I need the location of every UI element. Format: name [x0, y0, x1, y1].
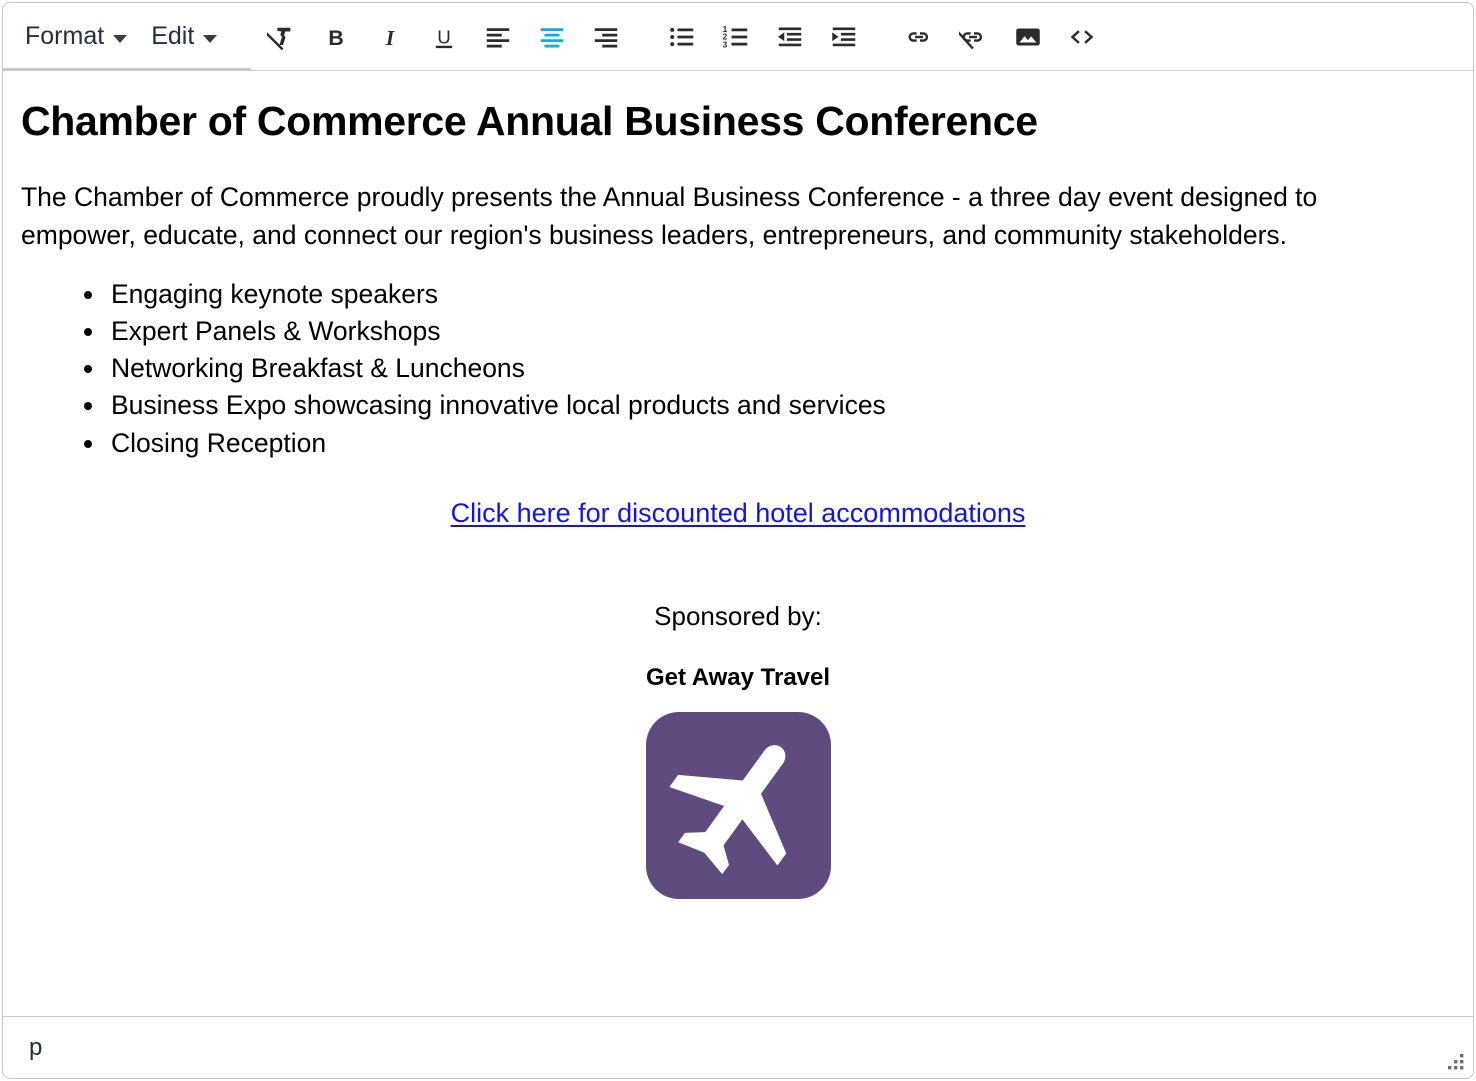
document-bullet-list: Engaging keynote speakers Expert Panels … [21, 276, 1455, 461]
underline-icon: U [429, 22, 459, 52]
editor-toolbar: Format Edit B I [3, 3, 1473, 71]
element-path[interactable]: p [29, 1034, 42, 1062]
document-intro-paragraph: The Chamber of Commerce proudly presents… [21, 179, 1381, 254]
list-item: Networking Breakfast & Luncheons [107, 350, 1455, 387]
list-item: Expert Panels & Workshops [107, 313, 1455, 350]
svg-text:U: U [438, 26, 452, 47]
resize-grip-icon[interactable] [1444, 1050, 1466, 1072]
clear-formatting-icon [267, 22, 297, 52]
link-icon [905, 22, 935, 52]
svg-text:B: B [329, 26, 344, 50]
document-title: Chamber of Commerce Annual Business Conf… [21, 99, 1455, 145]
list-item: Business Expo showcasing innovative loca… [107, 387, 1455, 424]
bold-icon: B [321, 22, 351, 52]
menu-format-label: Format [25, 22, 104, 51]
toolbar-button-clear-formatting[interactable] [260, 15, 304, 59]
align-right-icon [591, 22, 621, 52]
editor-status-bar: p [3, 1016, 1473, 1078]
menu-edit-label: Edit [151, 22, 194, 51]
hotel-accommodations-link[interactable]: Click here for discounted hotel accommod… [451, 498, 1026, 528]
toolbar-button-indent[interactable] [822, 15, 866, 59]
toolbar-button-align-left[interactable] [476, 15, 520, 59]
toolbar-button-insert-image[interactable] [1006, 15, 1050, 59]
toolbar-button-numbered-list[interactable]: 1 2 3 [714, 15, 758, 59]
sponsor-name: Get Away Travel [21, 664, 1455, 692]
toolbar-button-remove-link[interactable] [952, 15, 996, 59]
airplane-icon [646, 712, 831, 899]
italic-icon: I [375, 22, 405, 52]
svg-text:3: 3 [723, 40, 728, 49]
menu-format[interactable]: Format [17, 18, 133, 55]
image-icon [1013, 22, 1043, 52]
unlink-icon [959, 22, 989, 52]
toolbar-button-align-center[interactable] [530, 15, 574, 59]
align-center-icon [537, 22, 567, 52]
toolbar-button-bold[interactable]: B [314, 15, 358, 59]
toolbar-button-align-right[interactable] [584, 15, 628, 59]
toolbar-button-bullet-list[interactable] [660, 15, 704, 59]
toolbar-button-source-code[interactable] [1060, 15, 1104, 59]
rich-text-editor: Format Edit B I [2, 2, 1474, 1079]
svg-text:I: I [385, 26, 395, 50]
sponsored-by-label: Sponsored by: [21, 601, 1455, 632]
indent-icon [829, 22, 859, 52]
code-icon [1067, 22, 1097, 52]
sponsor-section: Sponsored by: Get Away Travel [21, 601, 1455, 899]
list-item: Engaging keynote speakers [107, 276, 1455, 313]
toolbar-button-outdent[interactable] [768, 15, 812, 59]
list-item: Closing Reception [107, 425, 1455, 462]
toolbar-button-insert-link[interactable] [898, 15, 942, 59]
bullet-list-icon [667, 22, 697, 52]
menu-edit[interactable]: Edit [143, 18, 223, 55]
outdent-icon [775, 22, 805, 52]
align-left-icon [483, 22, 513, 52]
chevron-down-icon [203, 35, 217, 43]
chevron-down-icon [113, 35, 127, 43]
toolbar-button-underline[interactable]: U [422, 15, 466, 59]
toolbar-button-italic[interactable]: I [368, 15, 412, 59]
sponsor-logo[interactable] [646, 712, 831, 899]
editor-content-body[interactable]: Chamber of Commerce Annual Business Conf… [3, 71, 1473, 1016]
hotel-link-row: Click here for discounted hotel accommod… [21, 498, 1455, 529]
numbered-list-icon: 1 2 3 [721, 22, 751, 52]
